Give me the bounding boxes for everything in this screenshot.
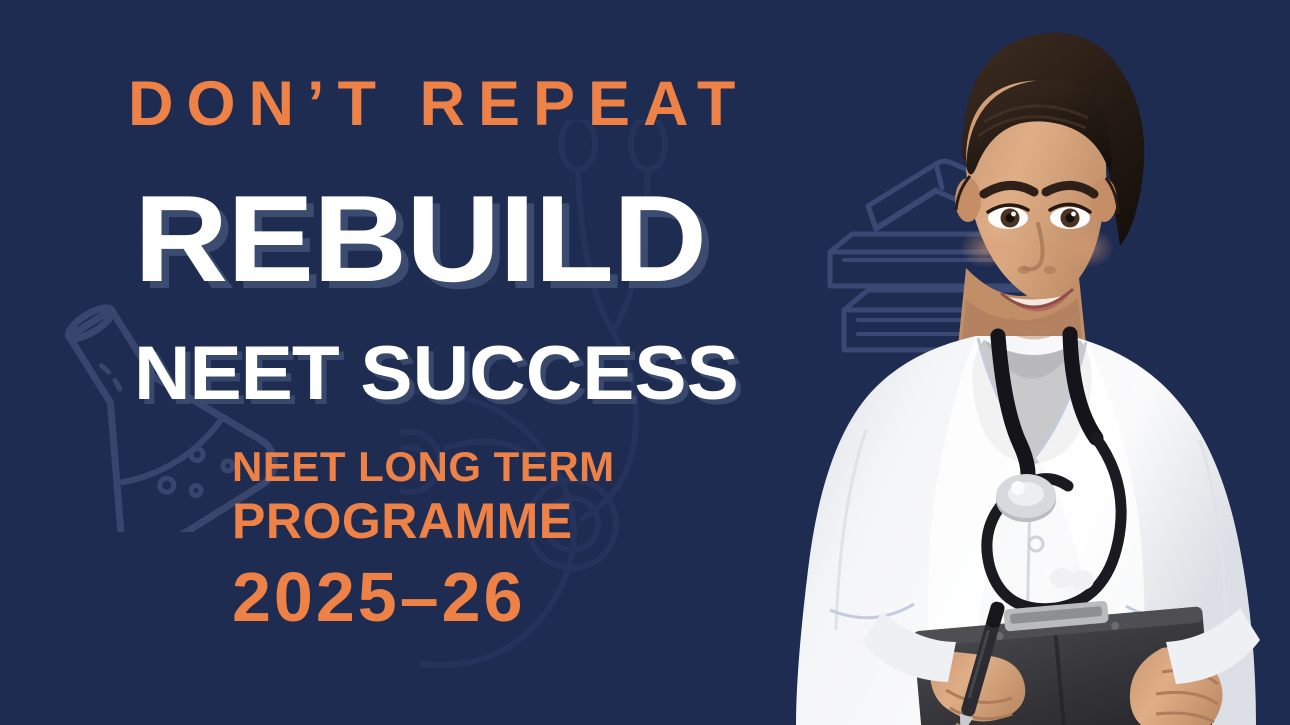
- sub-headline-neet: NEET: [134, 331, 339, 416]
- programme-year: 2025–26: [232, 562, 526, 632]
- promotional-banner: DON’T REPEAT REBUILD NEET SUCCESS NEET L…: [0, 0, 1290, 725]
- programme-line-1: NEET LONG TERM: [232, 446, 615, 488]
- headline-text-block: DON’T REPEAT REBUILD NEET SUCCESS NEET L…: [0, 0, 800, 725]
- sub-headline: NEET SUCCESS: [134, 336, 739, 412]
- programme-line-2: PROGRAMME: [232, 496, 573, 546]
- main-headline: REBUILD: [134, 178, 706, 301]
- kicker-headline: DON’T REPEAT: [128, 73, 748, 136]
- sub-headline-success: SUCCESS: [339, 331, 739, 416]
- doctor-photo: [770, 0, 1290, 725]
